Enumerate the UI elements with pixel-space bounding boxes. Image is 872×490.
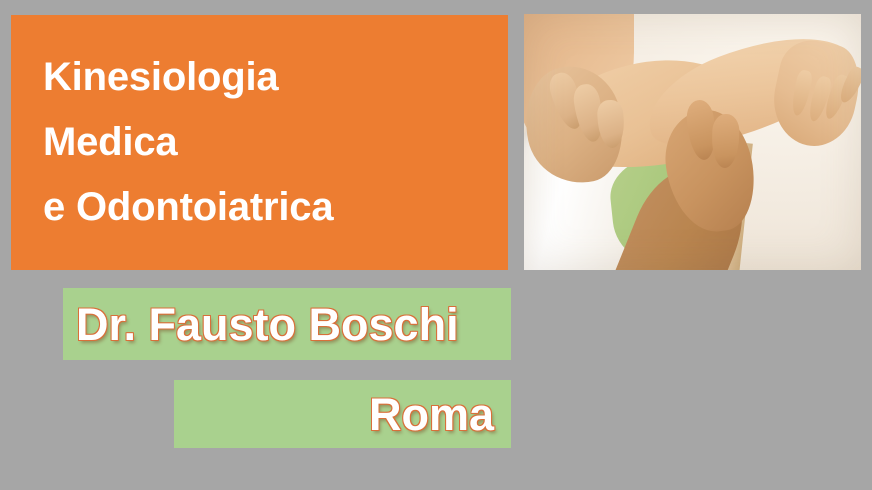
photo-background [524, 14, 861, 270]
city-bar: Roma [174, 380, 511, 448]
title-block: Kinesiologia Medica e Odontoiatrica [11, 15, 508, 270]
city-text: Roma [369, 392, 494, 437]
doctor-name-text: Dr. Fausto Boschi [76, 302, 459, 347]
doctor-name-bar: Dr. Fausto Boschi [63, 288, 511, 360]
title-line-3: e Odontoiatrica [43, 175, 508, 240]
therapy-photo [524, 14, 861, 270]
title-line-1: Kinesiologia [43, 45, 508, 110]
presentation-slide: Kinesiologia Medica e Odontoiatrica [0, 0, 872, 490]
title-line-2: Medica [43, 110, 508, 175]
